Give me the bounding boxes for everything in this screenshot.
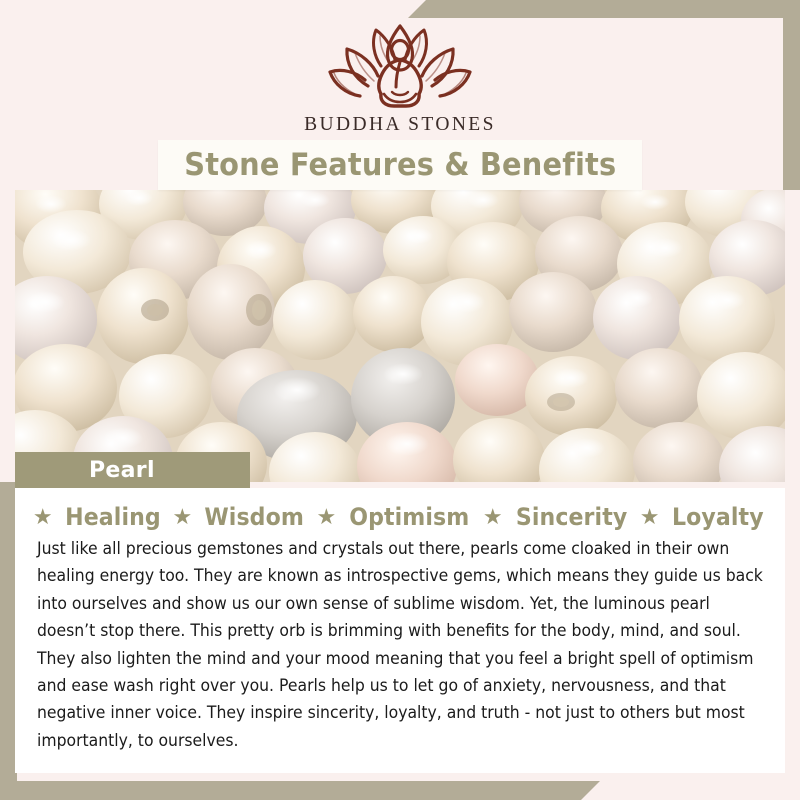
star-icon: ★ xyxy=(317,506,337,528)
page-title: Stone Features & Benefits xyxy=(184,147,616,183)
stone-name: Pearl xyxy=(89,458,155,483)
brand-wordmark: BUDDHA STONES xyxy=(304,114,496,136)
star-icon: ★ xyxy=(483,506,503,528)
star-icon: ★ xyxy=(33,506,53,528)
frame-accent-bottom-left xyxy=(0,781,600,800)
star-icon: ★ xyxy=(640,506,660,528)
keyword-sincerity: Sincerity xyxy=(515,503,626,531)
keyword-wisdom: Wisdom xyxy=(205,503,305,531)
stone-name-label: Pearl xyxy=(15,452,250,488)
benefit-keywords: ★ Healing ★ Wisdom ★ Optimism ★ Sincerit… xyxy=(37,500,763,534)
brand-header: BUDDHA STONES xyxy=(0,0,800,150)
keyword-healing: Healing xyxy=(65,503,161,531)
title-banner: Stone Features & Benefits xyxy=(158,140,642,190)
content-card: ★ Healing ★ Wisdom ★ Optimism ★ Sincerit… xyxy=(15,488,785,773)
pearls-photo xyxy=(15,190,785,482)
keyword-optimism: Optimism xyxy=(349,503,469,531)
lotus-meditation-icon xyxy=(324,22,476,108)
description-text: Just like all precious gemstones and cry… xyxy=(37,536,763,755)
star-icon: ★ xyxy=(173,506,193,528)
infographic-poster: BUDDHA STONES Stone Features & Benefits xyxy=(0,0,800,800)
keyword-loyalty: Loyalty xyxy=(672,503,764,531)
